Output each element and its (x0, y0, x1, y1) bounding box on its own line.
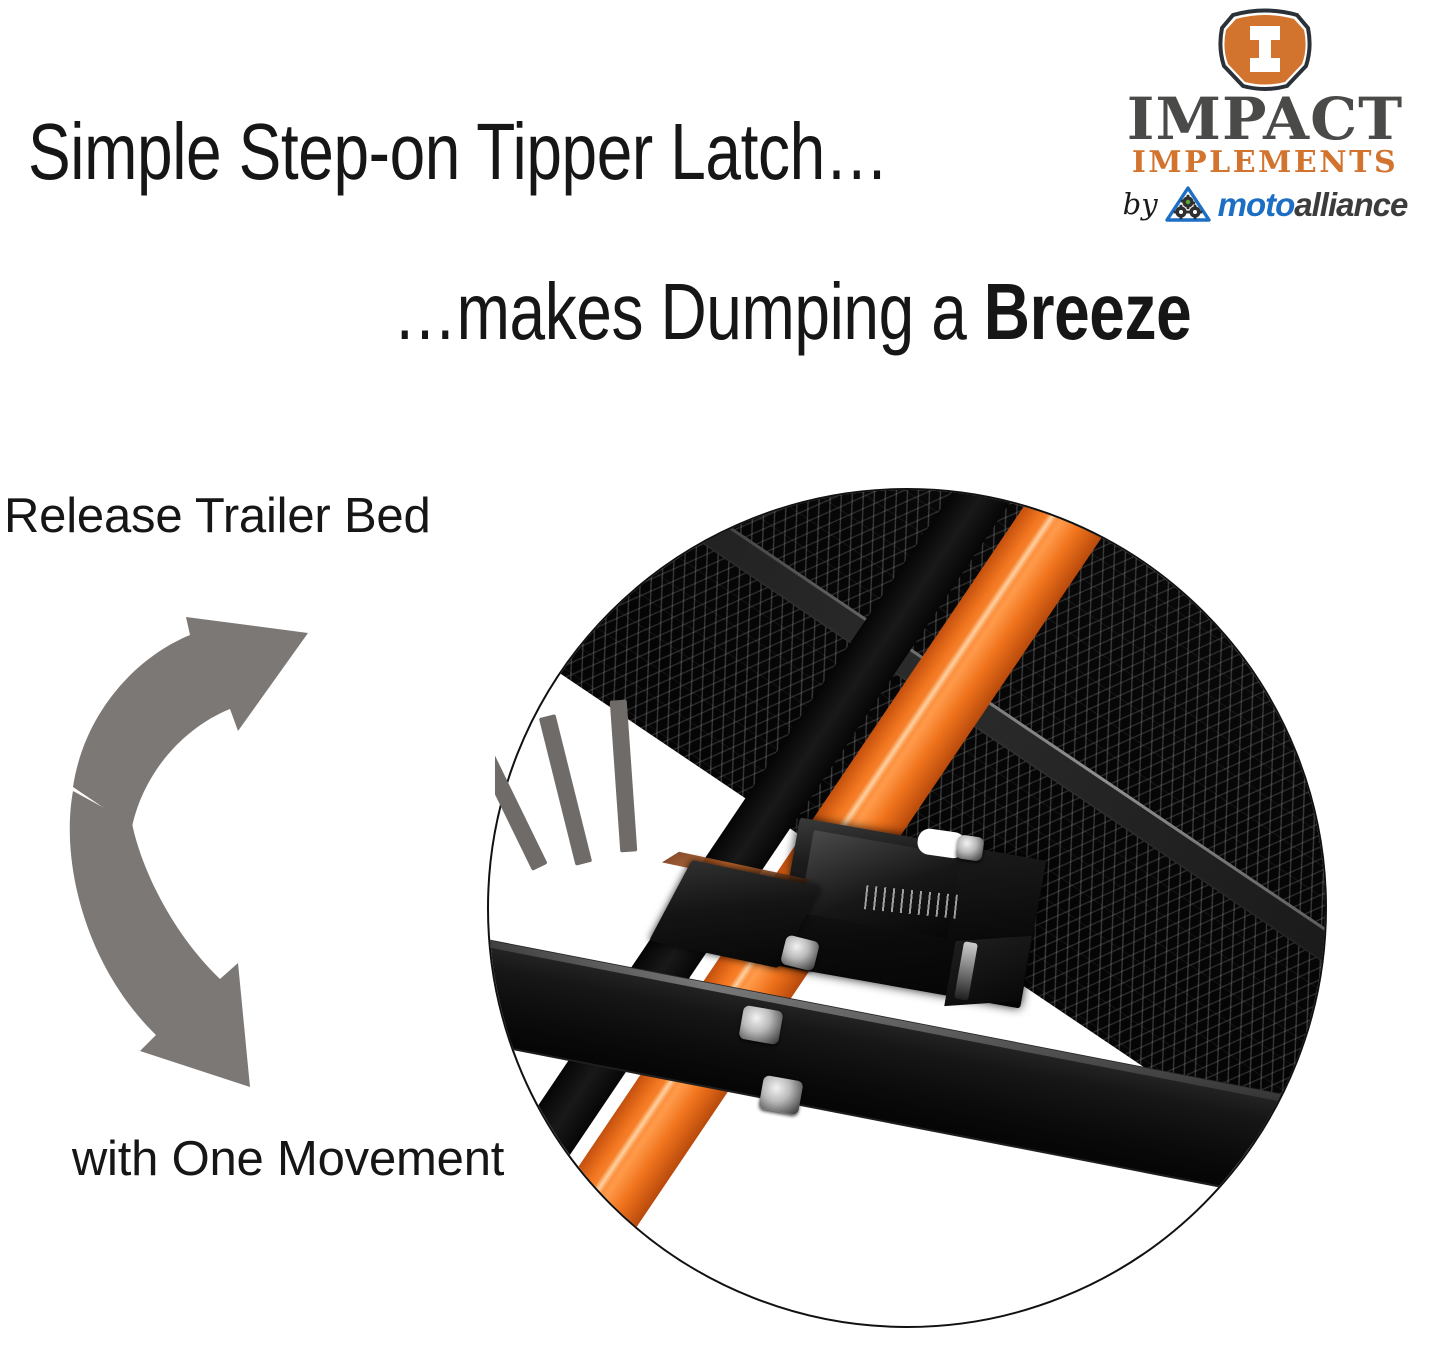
callout-release-trailer-bed: Release Trailer Bed (4, 487, 454, 546)
hex-bolt (955, 834, 984, 861)
logo-by-label: by (1123, 190, 1158, 219)
logo-wordmark-motoalliance: motoalliance (1218, 188, 1408, 221)
logo-alliance-part: alliance (1294, 186, 1407, 223)
curved-double-headed-arrow-icon (40, 595, 360, 1115)
motion-line (539, 714, 592, 866)
hex-bolt (758, 1075, 803, 1115)
hex-bolt (738, 1005, 783, 1045)
page-title-line-2-light: …makes Dumping a (393, 267, 984, 356)
page-title-line-1: Simple Step-on Tipper Latch… (28, 112, 888, 192)
logo-wordmark-impact: IMPACT (1087, 90, 1444, 148)
logo-wordmark-implements: IMPLEMENTS (1090, 148, 1440, 178)
motion-line (495, 747, 548, 871)
brand-logo: IMPACT IMPLEMENTS by (1090, 4, 1440, 232)
page-title-line-2-emphasis: Breeze (984, 267, 1192, 356)
page-title-line-2: …makes Dumping a Breeze (393, 272, 1191, 352)
logo-by-row: by (1090, 185, 1440, 223)
motion-action-lines-icon (495, 690, 695, 920)
impact-shield-i-icon (1213, 6, 1317, 92)
motion-line (610, 700, 638, 853)
logo-moto-part: moto (1218, 186, 1295, 223)
motoalliance-gear-triangle-icon (1165, 185, 1211, 223)
callout-with-one-movement: with One Movement (28, 1128, 548, 1192)
